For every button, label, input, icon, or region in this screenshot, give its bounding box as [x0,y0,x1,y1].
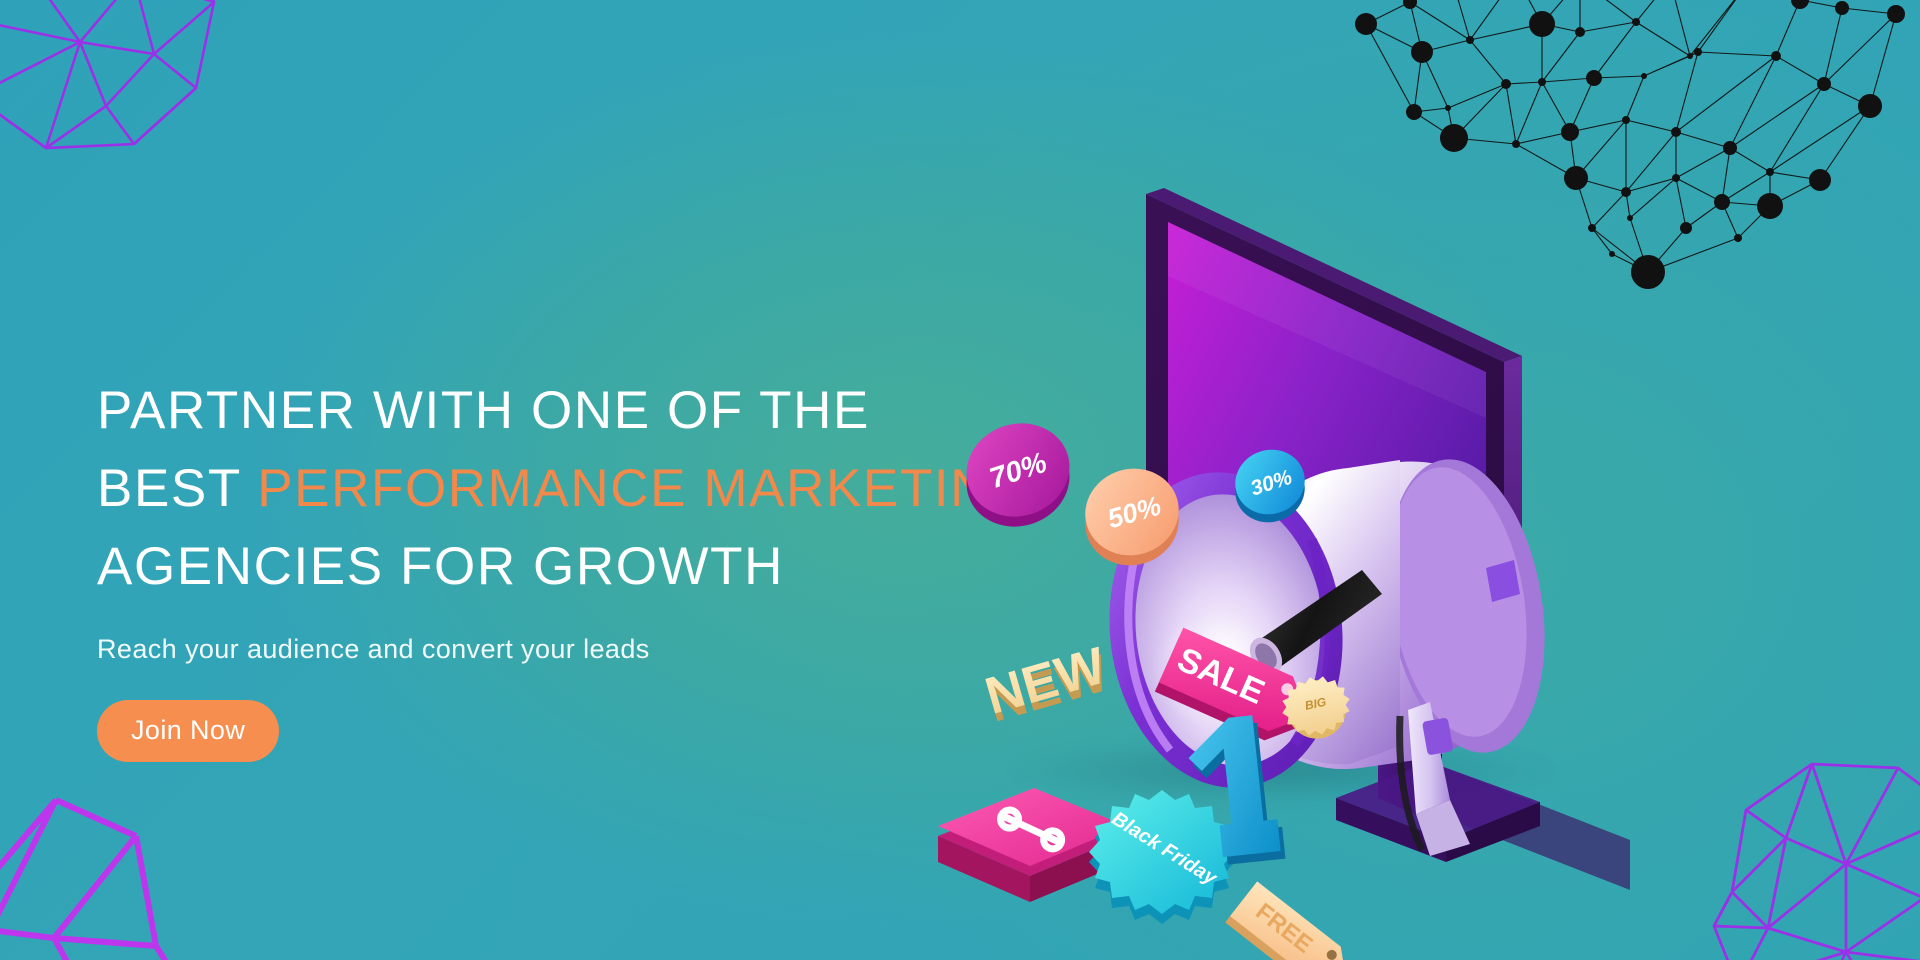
badge-70-percent: 70% [954,410,1081,540]
badge-black-friday: Black Friday [1089,790,1235,924]
join-now-button[interactable]: Join Now [97,700,279,762]
badge-new-text: NEW NEW [979,637,1115,734]
wireframe-sphere-top-left-icon [0,0,258,212]
badge-free-tag: FREE [1225,881,1359,960]
marketing-banner: PARTNER WITH ONE OF THE BEST PERFORMANCE… [0,0,1920,960]
megaphone-monitor-illustration: 70% 50% 30% NEW NEW SALE [930,150,1920,960]
headline-line-3-text: AGENCIES FOR GROWTH [97,537,784,596]
headline-line-1-text: PARTNER WITH ONE OF THE [97,381,870,440]
headline-line-2-accent: PERFORMANCE MARKETING [257,459,1033,518]
headline-line-2-white: BEST [97,459,257,518]
